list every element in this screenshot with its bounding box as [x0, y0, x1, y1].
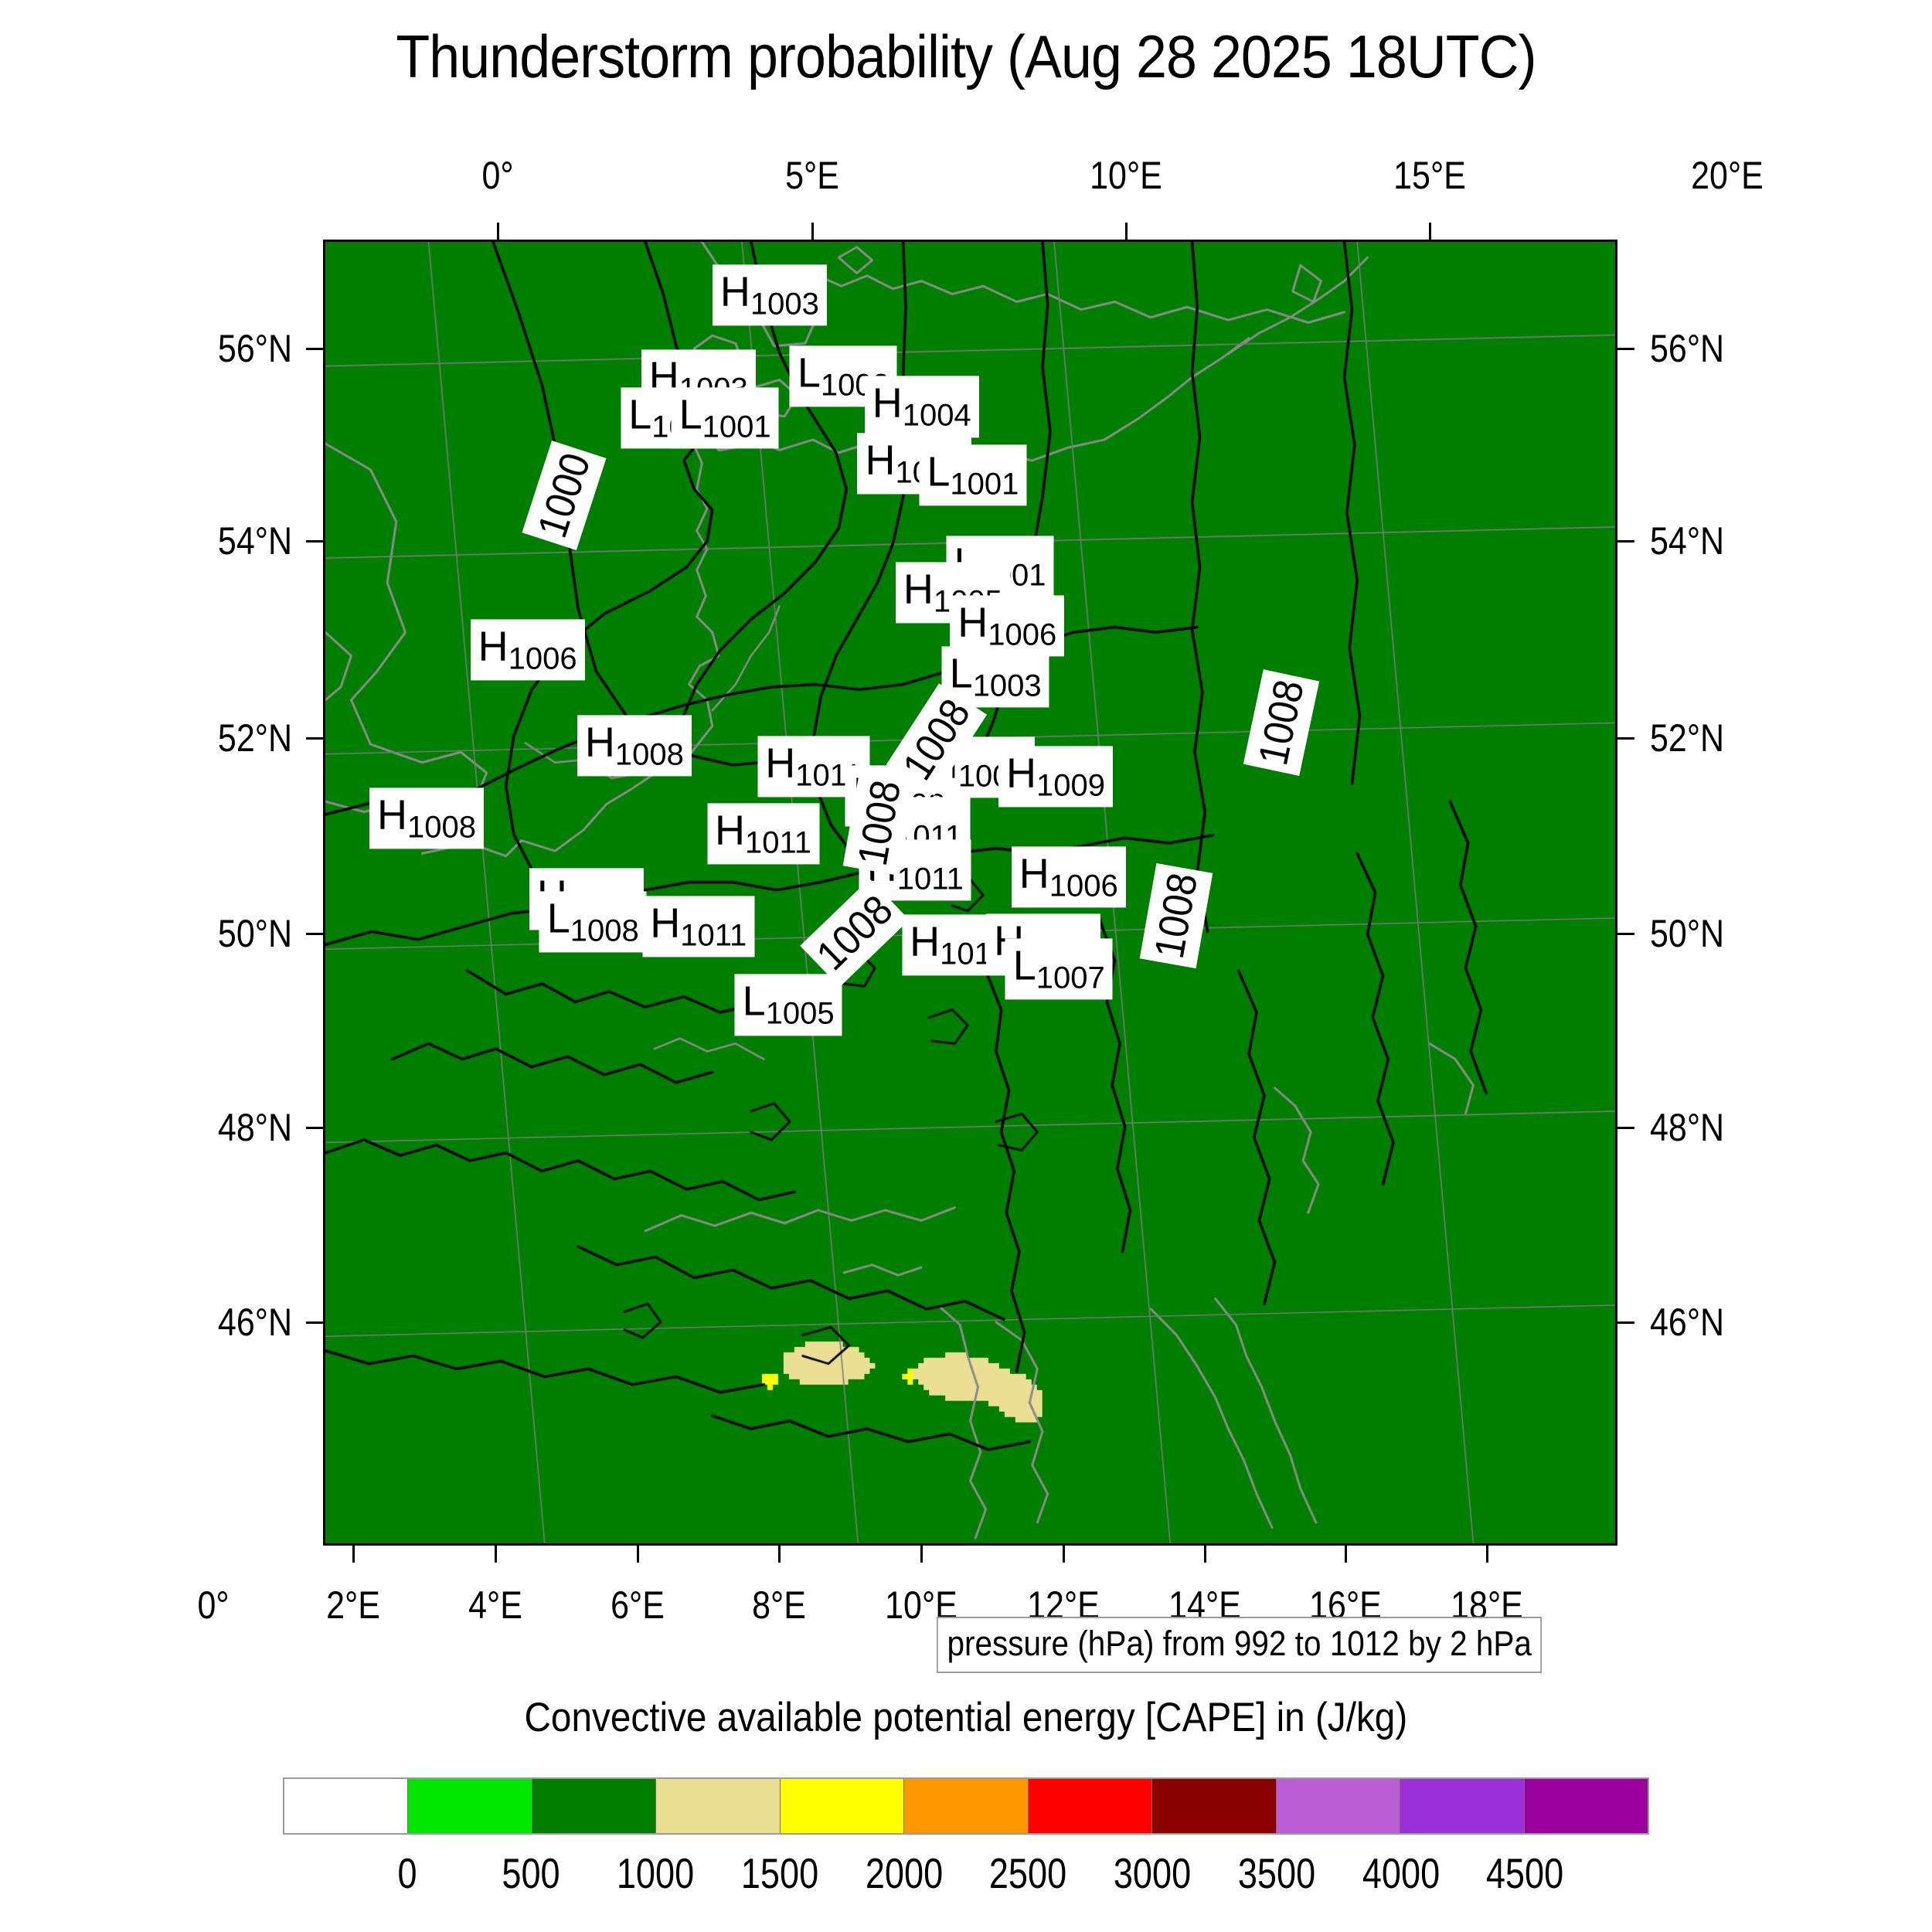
pressure-center-h-13: H1008: [577, 715, 692, 776]
axis-tick-right: [1617, 348, 1634, 350]
axis-label-lon-bottom-0: 0°: [197, 1583, 229, 1628]
axis-tick-top: [1125, 223, 1128, 240]
colorbar-band-6: [1028, 1779, 1151, 1833]
colorbar-band-5: [903, 1779, 1027, 1833]
axis-label-lon-top-1: 5°E: [785, 153, 839, 198]
pressure-center-symbol: L: [628, 391, 651, 437]
axis-tick-left: [306, 540, 323, 543]
colorbar-tick-0: 0: [397, 1849, 417, 1898]
axis-label-lat-left-1: 54°N: [185, 519, 292, 563]
axis-tick-bottom: [778, 1546, 781, 1563]
pressure-center-symbol: H: [865, 437, 895, 483]
axis-tick-bottom: [920, 1546, 923, 1563]
pressure-center-value: 1003: [750, 287, 819, 321]
pressure-center-value: 1011: [897, 862, 964, 896]
axis-label-lat-right-0: 56°N: [1650, 326, 1724, 371]
colorbar-caption-text: Convective available potential energy [C…: [525, 1694, 1408, 1741]
pressure-center-symbol: H: [910, 918, 940, 964]
pressure-center-h-25: H1011: [642, 896, 754, 957]
colorbar-tick-500: 500: [502, 1849, 560, 1898]
pressure-center-symbol: L: [927, 448, 950, 495]
pressure-center-symbol: L: [1013, 942, 1036, 988]
pressure-center-h-11: H1006: [471, 619, 585, 680]
axis-label-lon-top-4: 20°E: [1692, 153, 1764, 198]
axis-tick-bottom: [1204, 1546, 1206, 1563]
colorbar-tick-4500: 4500: [1486, 1849, 1563, 1898]
axis-tick-left: [306, 1321, 323, 1324]
pressure-center-value: 1008: [407, 810, 476, 844]
pressure-center-symbol: H: [720, 268, 750, 315]
axis-tick-top: [1429, 223, 1431, 240]
axis-tick-top: [497, 223, 499, 240]
cape-colorbar-ticks: 050010001500200025003000350040004500: [283, 1849, 1649, 1903]
axis-label-lat-left-0: 56°N: [185, 326, 292, 371]
colorbar-tick-3500: 3500: [1238, 1849, 1315, 1898]
pressure-center-symbol: H: [903, 566, 934, 613]
axis-tick-bottom: [1345, 1546, 1347, 1563]
axis-tick-bottom: [352, 1546, 355, 1563]
axis-label-lat-left-5: 46°N: [185, 1300, 292, 1345]
axis-label-lon-bottom-1: 2°E: [326, 1583, 380, 1628]
pressure-center-value: 1001: [702, 410, 771, 444]
axis-tick-bottom: [1063, 1546, 1065, 1563]
pressure-center-l-7: L1001: [919, 444, 1026, 505]
pressure-center-symbol: H: [715, 807, 745, 853]
pressure-center-h-0: H1003: [713, 264, 827, 325]
pressure-center-symbol: H: [872, 380, 903, 427]
pressure-center-h-20: H1011: [707, 803, 819, 864]
axis-label-lon-top-0: 0°: [482, 153, 514, 198]
pressure-center-symbol: H: [377, 791, 407, 838]
axis-tick-right: [1617, 1127, 1634, 1129]
axis-label-lat-left-4: 48°N: [185, 1105, 292, 1150]
pressure-center-value: 1008: [570, 914, 639, 948]
pressure-center-l-28: L1007: [1005, 938, 1113, 999]
page-title: Thunderstorm probability (Aug 28 2025 18…: [77, 22, 1855, 92]
colorbar-band-7: [1151, 1779, 1275, 1833]
pressure-contour-note: pressure (hPa) from 992 to 1012 by 2 hPa: [937, 1617, 1542, 1673]
pressure-center-symbol: L: [679, 391, 702, 437]
pressure-center-value: 1004: [903, 399, 971, 433]
colorbar-band-0: [284, 1779, 407, 1833]
colorbar-band-4: [780, 1779, 903, 1833]
pressure-center-symbol: H: [1019, 850, 1049, 896]
axis-tick-left: [306, 737, 323, 740]
axis-label-lat-right-5: 46°N: [1650, 1300, 1724, 1345]
axis-tick-top: [811, 223, 814, 240]
axis-label-lon-top-2: 10°E: [1090, 153, 1162, 198]
pressure-center-symbol: L: [743, 978, 766, 1025]
pressure-center-value: 1005: [766, 997, 835, 1031]
colorbar-band-10: [1524, 1779, 1648, 1833]
pressure-center-value: 1003: [973, 669, 1042, 703]
axis-label-lon-bottom-4: 8°E: [752, 1583, 806, 1628]
colorbar-band-8: [1276, 1779, 1400, 1833]
colorbar-tick-1500: 1500: [741, 1849, 818, 1898]
pressure-center-symbol: H: [478, 623, 509, 669]
pressure-center-value: 1008: [615, 737, 684, 771]
colorbar-band-3: [655, 1779, 779, 1833]
pressure-center-symbol: H: [1006, 750, 1036, 796]
axis-label-lat-right-2: 52°N: [1650, 716, 1724, 760]
colorbar-band-2: [532, 1779, 655, 1833]
pressure-center-symbol: H: [585, 719, 615, 765]
pressure-center-l-4: L1001: [672, 387, 779, 448]
pressure-center-value: 1006: [1049, 869, 1118, 903]
pressure-center-value: 1011: [745, 826, 811, 860]
colorbar-band-9: [1400, 1779, 1523, 1833]
pressure-center-value: 1009: [1036, 768, 1105, 802]
axis-label-lon-top-3: 15°E: [1393, 153, 1466, 198]
axis-tick-bottom: [637, 1546, 639, 1563]
axis-tick-bottom: [1486, 1546, 1488, 1563]
axis-label-lat-right-1: 54°N: [1650, 519, 1724, 563]
axis-tick-right: [1617, 933, 1634, 935]
pressure-center-l-29: L1005: [735, 975, 842, 1036]
colorbar-tick-4000: 4000: [1362, 1849, 1439, 1898]
pressure-center-value: 1006: [509, 641, 577, 675]
axis-label-lat-right-4: 48°N: [1650, 1105, 1724, 1150]
pressure-center-value: 1007: [1036, 961, 1105, 995]
pressure-center-value: 1001: [950, 468, 1019, 502]
pressure-center-symbol: H: [650, 900, 680, 946]
colorbar-tick-1000: 1000: [617, 1849, 694, 1898]
pressure-center-symbol: H: [765, 740, 795, 786]
axis-tick-left: [306, 1127, 323, 1129]
colorbar-tick-2000: 2000: [865, 1849, 942, 1898]
axis-tick-right: [1617, 540, 1634, 543]
pressure-center-h-22: H1006: [1012, 846, 1126, 907]
pressure-center-l-24: L1008: [539, 891, 647, 952]
pressure-center-h-18: H1008: [369, 787, 484, 849]
pressure-center-value: 1011: [680, 919, 747, 953]
axis-label-lat-left-2: 52°N: [185, 716, 292, 760]
pressure-center-symbol: L: [798, 349, 821, 396]
axis-tick-left: [306, 933, 323, 935]
pressure-center-symbol: L: [950, 651, 973, 697]
colorbar-band-1: [407, 1779, 531, 1833]
colorbar-tick-2500: 2500: [989, 1849, 1066, 1898]
axis-label-lon-bottom-2: 4°E: [468, 1583, 522, 1628]
colorbar-tick-3000: 3000: [1114, 1849, 1191, 1898]
axis-tick-left: [306, 348, 323, 350]
axis-tick-bottom: [495, 1546, 497, 1563]
pressure-center-symbol: H: [957, 600, 988, 646]
axis-tick-right: [1617, 737, 1634, 740]
axis-tick-right: [1617, 1321, 1634, 1324]
axis-label-lat-right-3: 50°N: [1650, 911, 1724, 956]
pressure-center-symbol: L: [547, 895, 570, 941]
cape-colorbar: [283, 1777, 1649, 1835]
pressure-center-h-5: H1004: [865, 376, 979, 437]
colorbar-caption: Convective available potential energy [C…: [0, 1694, 1932, 1741]
axis-label-lon-bottom-3: 6°E: [611, 1583, 665, 1628]
pressure-center-h-16: H1009: [998, 746, 1113, 807]
axis-label-lat-left-3: 50°N: [185, 911, 292, 956]
